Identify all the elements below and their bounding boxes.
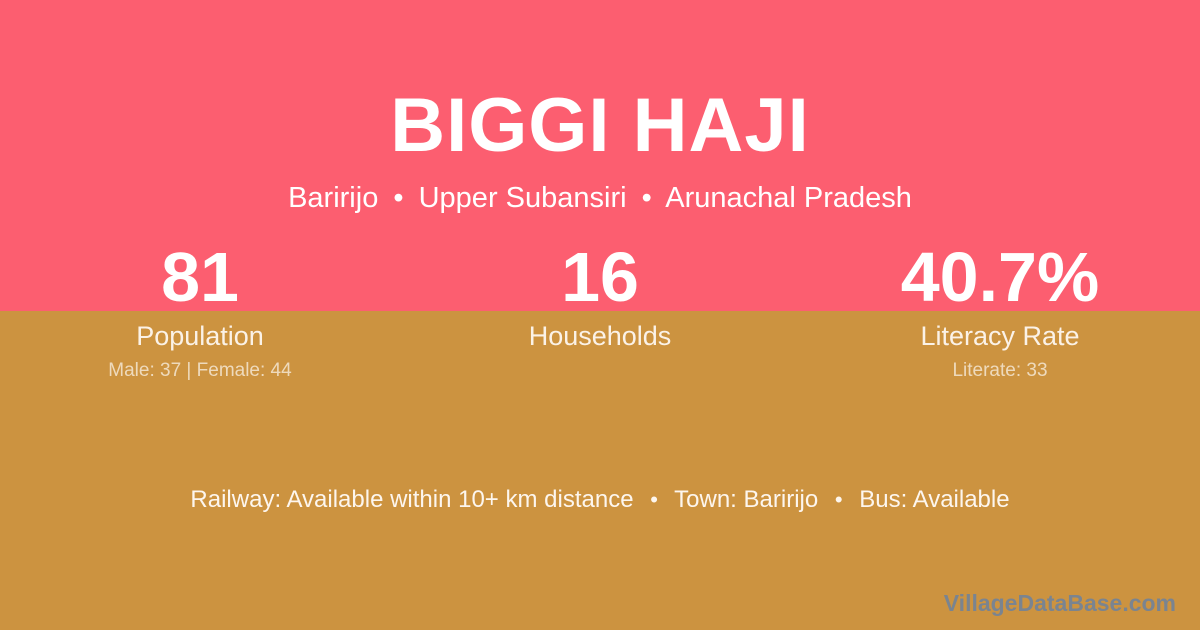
breadcrumb: Baririjo • Upper Subansiri • Arunachal P…	[0, 168, 1200, 215]
site-brand-watermark: VillageDataBase.com	[944, 588, 1176, 618]
stat-value: 81	[0, 243, 400, 311]
stat-population: 81 Population Male: 37 | Female: 44	[0, 243, 400, 382]
stats-row: 81 Population Male: 37 | Female: 44 16 H…	[0, 243, 1200, 382]
stat-value: 16	[400, 243, 800, 311]
stat-sub	[400, 360, 800, 382]
stat-literacy-rate: 40.7% Literacy Rate Literate: 33	[800, 243, 1200, 382]
stat-value: 40.7%	[800, 243, 1200, 311]
card-header: BIGGI HAJI Baririjo • Upper Subansiri • …	[0, 0, 1200, 215]
stat-label: Literacy Rate	[800, 321, 1200, 351]
stat-label: Households	[400, 321, 800, 351]
stat-households: 16 Households	[400, 243, 800, 382]
page-title: BIGGI HAJI	[0, 0, 1200, 168]
breadcrumb-state: Arunachal Pradesh	[665, 182, 912, 214]
amenity-railway: Railway: Available within 10+ km distanc…	[190, 486, 633, 513]
amenity-separator-1: •	[640, 487, 668, 512]
breadcrumb-district: Upper Subansiri	[419, 182, 627, 214]
breadcrumb-separator-1: •	[386, 182, 410, 214]
breadcrumb-separator-2: •	[635, 182, 659, 214]
stat-sub: Male: 37 | Female: 44	[0, 360, 400, 382]
stat-sub: Literate: 33	[800, 360, 1200, 382]
breadcrumb-block: Baririjo	[288, 182, 378, 214]
amenity-town: Town: Baririjo	[674, 486, 818, 513]
amenities-line: Railway: Available within 10+ km distanc…	[0, 485, 1200, 515]
stat-label: Population	[0, 321, 400, 351]
amenity-bus: Bus: Available	[859, 486, 1009, 513]
village-info-card: BIGGI HAJI Baririjo • Upper Subansiri • …	[0, 0, 1200, 630]
amenity-separator-2: •	[825, 487, 853, 512]
